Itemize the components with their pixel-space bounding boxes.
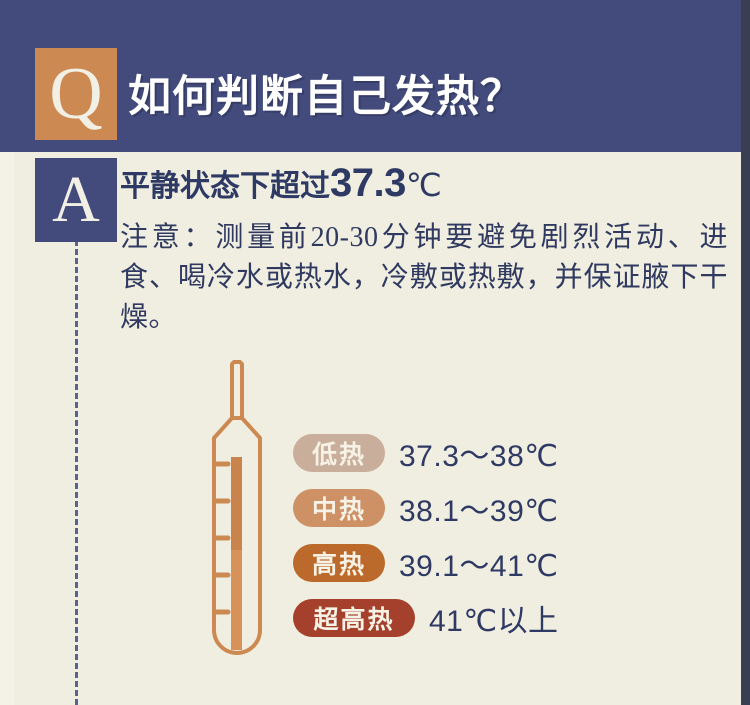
fever-level-pill-low: 低热 [293,434,385,472]
legend-row: 中热 38.1～39℃ [293,480,623,535]
answer-heading: 平静状态下超过37.3℃ [120,158,735,208]
legend-row: 低热 37.3～38℃ [293,425,623,480]
fever-level-pill-moderate: 中热 [293,489,385,527]
fever-range-very-high: 41℃以上 [429,596,559,640]
legend-row: 超高热 41℃以上 [293,590,623,645]
answer-badge: A [35,158,117,242]
question-badge: Q [35,48,117,140]
thermometer-svg [196,360,306,665]
answer-content: 平静状态下超过37.3℃ 注意：测量前20-30分钟要避免剧烈活动、进食、喝冷水… [120,158,735,337]
thermometer-illustration [196,360,306,665]
fever-level-pill-very-high: 超高热 [293,599,415,637]
thermometer-ticks [215,464,228,612]
thermometer-mercury-lower [231,550,242,650]
right-edge-strip [741,0,750,705]
page-title: 如何判断自己发热？ [128,62,524,124]
infographic-page: Q 如何判断自己发热？ A 平静状态下超过37.3℃ 注意：测量前20-30分钟… [0,0,750,705]
thermometer-mercury-upper [231,457,242,550]
answer-heading-lead: 平静状态下超过 [120,168,330,206]
answer-badge-letter: A [35,158,117,242]
left-margin-strip [0,152,14,705]
dashed-connector-line [75,240,78,705]
answer-note-text: 注意：测量前20-30分钟要避免剧烈活动、进食、喝冷水或热水，冷敷或热敷，并保证… [120,218,728,337]
answer-heading-unit: ℃ [406,165,442,205]
fever-range-moderate: 38.1～39℃ [399,486,558,530]
legend-row: 高热 39.1～41℃ [293,535,623,590]
fever-level-legend: 低热 37.3～38℃ 中热 38.1～39℃ 高热 39.1～41℃ 超高热 … [293,425,623,645]
fever-range-high: 39.1～41℃ [399,541,558,585]
fever-level-pill-high: 高热 [293,544,385,582]
answer-heading-value: 37.3 [330,158,406,208]
thermometer-stem [232,362,242,418]
question-badge-letter: Q [35,48,117,140]
fever-range-low: 37.3～38℃ [399,431,558,475]
